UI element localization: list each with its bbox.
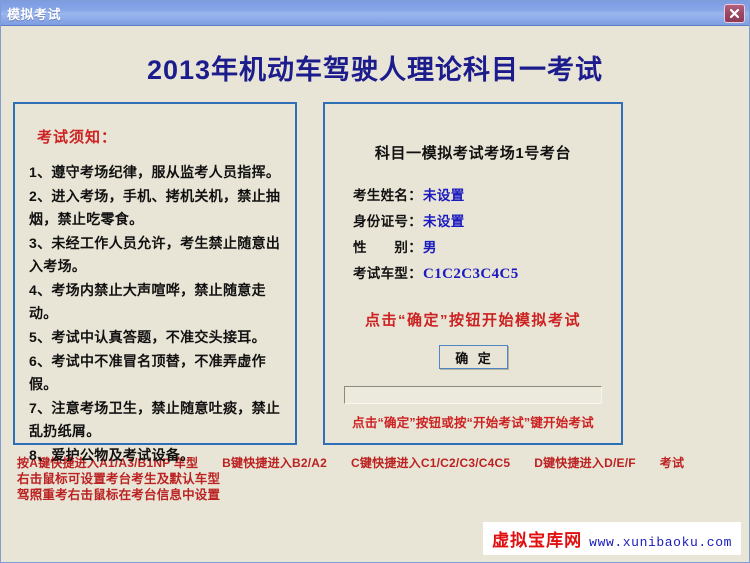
station-title: 科目一模拟考试考场1号考台 — [335, 142, 611, 163]
confirm-button-wrap: 确 定 — [335, 345, 611, 369]
field-value: 未设置 — [423, 209, 465, 235]
notice-list: 1、遵守考场纪律，服从监考人员指挥。 2、进入考场，手机、拷机关机，禁止抽烟，禁… — [29, 161, 281, 467]
field-vehicle-type: 考试车型： C1C2C3C4C5 — [353, 261, 611, 287]
list-item: 3、未经工作人员允许，考生禁止随意出入考场。 — [29, 232, 281, 278]
mouse-hint-line-2: 驾照重考右击鼠标在考台信息中设置 — [17, 487, 749, 503]
shortcut-hint-exam: 考试 — [660, 454, 684, 471]
list-item: 7、注意考场卫生，禁止随意吐痰，禁止乱扔纸屑。 — [29, 397, 281, 443]
field-label: 考试车型： — [353, 261, 422, 287]
shortcut-hint-c: C键快捷进入C1/C2/C3/C4C5 — [351, 454, 510, 471]
page-title: 2013年机动车驾驶人理论科目一考试 — [1, 26, 749, 91]
exam-station-panel: 科目一模拟考试考场1号考台 考生姓名： 未设置 身份证号： 未设置 性 别： 男… — [323, 102, 623, 445]
list-item: 2、进入考场，手机、拷机关机，禁止抽烟，禁止吃零食。 — [29, 185, 281, 231]
field-value: 男 — [423, 235, 437, 261]
field-value: 未设置 — [423, 183, 465, 209]
list-item: 4、考场内禁止大声喧哗，禁止随意走动。 — [29, 279, 281, 325]
status-input[interactable] — [344, 386, 602, 404]
mouse-hint-line-1: 右击鼠标可设置考台考生及默认车型 — [17, 471, 749, 487]
shortcut-hint-d: D键快捷进入D/E/F — [534, 454, 636, 471]
list-item: 6、考试中不准冒名顶替，不准弄虚作假。 — [29, 350, 281, 396]
simulated-exam-window: 模拟考试 2013年机动车驾驶人理论科目一考试 考试须知： 1、遵守考场纪律，服… — [0, 0, 750, 563]
notice-heading: 考试须知： — [37, 126, 281, 147]
close-icon — [728, 7, 741, 20]
field-label: 性 别： — [353, 235, 422, 261]
candidate-info-fields: 考生姓名： 未设置 身份证号： 未设置 性 别： 男 考试车型： C1C2C3C… — [353, 183, 611, 287]
list-item: 8、爱护公物及考试设备。 — [29, 444, 281, 467]
list-item: 5、考试中认真答题，不准交头接耳。 — [29, 326, 281, 349]
field-value: C1C2C3C4C5 — [423, 261, 519, 287]
close-button[interactable] — [724, 4, 745, 23]
window-title: 模拟考试 — [7, 4, 61, 23]
panels-container: 考试须知： 1、遵守考场纪律，服从监考人员指挥。 2、进入考场，手机、拷机关机，… — [13, 102, 737, 445]
confirm-button[interactable]: 确 定 — [439, 345, 508, 369]
field-id-number: 身份证号： 未设置 — [353, 209, 611, 235]
watermark-url: www.xunibaoku.com — [589, 535, 732, 550]
list-item: 1、遵守考场纪律，服从监考人员指挥。 — [29, 161, 281, 184]
field-label: 身份证号： — [353, 209, 422, 235]
start-instruction-text: 点击“确定”按钮开始模拟考试 — [335, 309, 611, 330]
field-gender: 性 别： 男 — [353, 235, 611, 261]
window-titlebar: 模拟考试 — [1, 1, 749, 26]
watermark-brand: 虚拟宝库网 — [492, 526, 582, 551]
exam-notice-panel: 考试须知： 1、遵守考场纪律，服从监考人员指挥。 2、进入考场，手机、拷机关机，… — [13, 102, 297, 445]
field-label: 考生姓名： — [353, 183, 422, 209]
bottom-hint-text: 点击“确定”按钮或按“开始考试”键开始考试 — [325, 412, 621, 431]
watermark: 虚拟宝库网 www.xunibaoku.com — [483, 522, 741, 555]
field-candidate-name: 考生姓名： 未设置 — [353, 183, 611, 209]
